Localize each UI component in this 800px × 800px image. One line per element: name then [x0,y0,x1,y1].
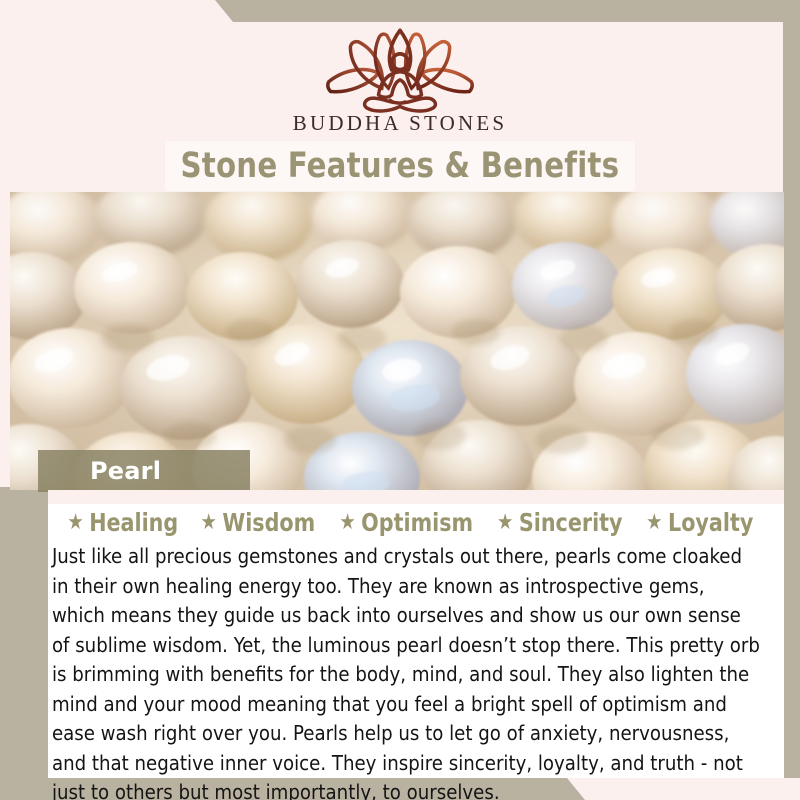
benefit-keyword-label: Optimism [361,508,473,537]
benefit-keywords-row: ★Healing★Wisdom★Optimism★Sincerity★Loyal… [48,508,784,537]
page-title: Stone Features & Benefits [181,146,620,186]
benefit-keyword: ★Loyalty [646,508,765,537]
star-icon: ★ [646,512,662,534]
benefit-keyword: ★Wisdom [201,508,328,537]
benefit-keyword: ★Optimism [339,508,485,537]
star-icon: ★ [339,512,355,534]
stone-name-plate: Pearl [38,450,250,492]
brand-name: BUDDHA STONES [293,111,508,136]
lotus-meditation-logo-icon [316,27,484,113]
stone-name: Pearl [90,457,161,485]
content-panel: ★Healing★Wisdom★Optimism★Sincerity★Loyal… [48,490,784,778]
benefit-keyword-label: Healing [89,508,178,537]
title-banner: Stone Features & Benefits [165,141,635,191]
star-icon: ★ [67,512,83,534]
content-top-strip [48,490,784,504]
hero-image [10,192,784,490]
benefit-keyword-label: Sincerity [519,508,623,537]
infographic-page: BUDDHA STONES Stone Features & Benefits [0,0,800,800]
pearls-photo-illustration [10,192,784,490]
benefit-keyword: ★Sincerity [497,508,635,537]
benefit-keyword-label: Loyalty [668,508,753,537]
star-icon: ★ [201,512,217,534]
decor-band-left-edge [0,487,48,800]
stone-description: Just like all precious gemstones and cry… [48,542,764,800]
decor-band-top-right [0,0,800,22]
benefit-keyword-label: Wisdom [223,508,316,537]
decor-band-right-edge [783,0,800,778]
star-icon: ★ [497,512,513,534]
benefit-keyword: ★Healing [67,508,190,537]
brand-header: BUDDHA STONES [17,22,783,140]
